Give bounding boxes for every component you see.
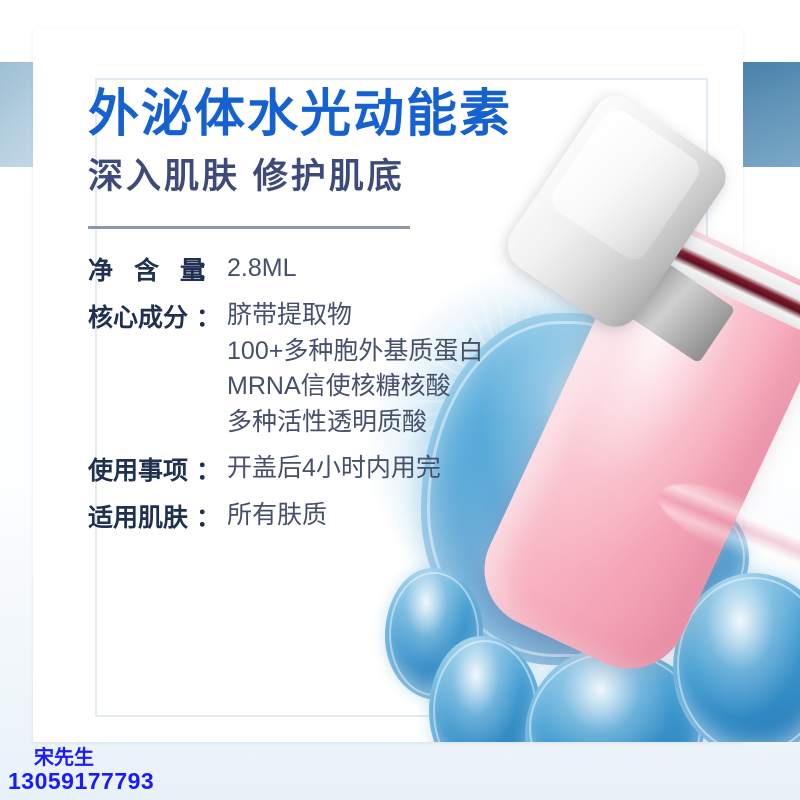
spec-row-skin-type: 适用肌肤 ： 所有肤质 bbox=[88, 498, 508, 534]
spec-list: 净 含 量 ： 2.8ML 核心成分 ： 脐带提取物 100+多种胞外基质蛋白 … bbox=[88, 251, 508, 534]
product-title: 外泌体水光动能素 bbox=[88, 86, 508, 142]
spec-value: MRNA信使核糖核酸 bbox=[227, 369, 508, 405]
spec-value: 多种活性透明质酸 bbox=[227, 405, 508, 441]
spec-value: 所有肤质 bbox=[227, 501, 327, 529]
spec-colon: ： bbox=[196, 498, 221, 534]
spec-colon: ： bbox=[196, 251, 221, 287]
spec-row-core-ingredients: 核心成分 ： 脐带提取物 100+多种胞外基质蛋白 MRNA信使核糖核酸 多种活… bbox=[88, 298, 508, 440]
spec-value: 脐带提取物 bbox=[227, 298, 508, 334]
spec-values: 脐带提取物 100+多种胞外基质蛋白 MRNA信使核糖核酸 多种活性透明质酸 bbox=[227, 298, 508, 440]
spec-colon: ： bbox=[196, 451, 221, 487]
spec-value: 2.8ML bbox=[227, 254, 296, 282]
spec-values: 2.8ML bbox=[227, 251, 508, 287]
seller-watermark: 宋先生 13059177793 bbox=[8, 748, 154, 794]
spec-label: 使用事项 bbox=[88, 451, 196, 487]
spec-row-net-content: 净 含 量 ： 2.8ML bbox=[88, 251, 508, 287]
spec-values: 所有肤质 bbox=[227, 498, 508, 534]
spec-label: 适用肌肤 bbox=[88, 498, 196, 534]
spec-label: 核心成分 bbox=[88, 298, 196, 334]
spec-label: 净 含 量 bbox=[88, 251, 196, 287]
spec-values: 开盖后4小时内用完 bbox=[227, 451, 508, 487]
section-divider bbox=[88, 226, 410, 229]
watermark-phone: 13059177793 bbox=[8, 769, 154, 794]
spec-colon: ： bbox=[196, 298, 221, 334]
ad-canvas: 外泌体水光动能素 深入肌肤 修护肌底 净 含 量 ： 2.8ML 核心成分 ： … bbox=[0, 0, 800, 800]
spec-value: 100+多种胞外基质蛋白 bbox=[227, 334, 508, 370]
watermark-name: 宋先生 bbox=[34, 748, 154, 770]
product-subtitle: 深入肌肤 修护肌底 bbox=[88, 156, 508, 198]
spec-value: 开盖后4小时内用完 bbox=[227, 454, 441, 482]
spec-row-usage-note: 使用事项 ： 开盖后4小时内用完 bbox=[88, 451, 508, 487]
product-text-block: 外泌体水光动能素 深入肌肤 修护肌底 净 含 量 ： 2.8ML 核心成分 ： … bbox=[88, 86, 508, 545]
